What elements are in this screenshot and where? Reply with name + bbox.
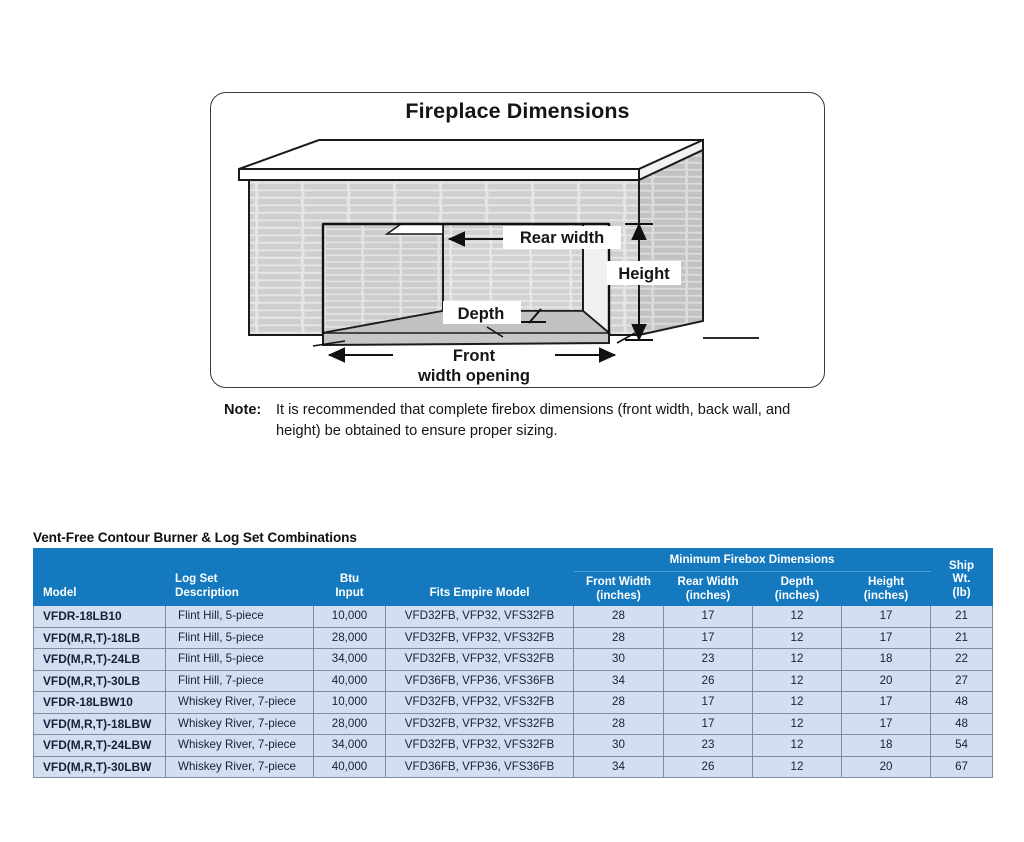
col-header-fits-empire-model: Fits Empire Model	[386, 549, 574, 606]
cell-log-set: Whiskey River, 7-piece	[166, 756, 314, 778]
cell-ship-weight: 22	[931, 649, 993, 671]
cell-rear-width: 17	[664, 627, 753, 649]
cell-btu-input: 28,000	[314, 713, 386, 735]
cell-depth: 12	[753, 670, 842, 692]
col-header-log-set-description-line2: Description	[175, 586, 239, 599]
table-row: VFD(M,R,T)-30LBFlint Hill, 7-piece40,000…	[34, 670, 993, 692]
cell-log-set: Whiskey River, 7-piece	[166, 713, 314, 735]
cell-height: 17	[842, 627, 931, 649]
cell-model: VFD(M,R,T)-24LB	[34, 649, 166, 671]
note-block: Note: It is recommended that complete fi…	[224, 400, 824, 442]
note-text: It is recommended that complete firebox …	[276, 400, 824, 442]
col-header-rear-width-line2: (inches)	[686, 589, 730, 602]
cell-model: VFD(M,R,T)-24LBW	[34, 735, 166, 757]
height-label: Height	[618, 265, 670, 283]
cell-fits-empire-model: VFD32FB, VFP32, VFS32FB	[386, 692, 574, 714]
col-header-log-set-description-line1: Log Set	[175, 572, 218, 585]
cell-height: 20	[842, 670, 931, 692]
col-header-ship-weight-line3: (lb)	[953, 586, 971, 599]
cell-log-set: Flint Hill, 5-piece	[166, 627, 314, 649]
cell-log-set: Flint Hill, 5-piece	[166, 606, 314, 628]
cell-depth: 12	[753, 692, 842, 714]
cell-btu-input: 34,000	[314, 735, 386, 757]
cell-front-width: 34	[574, 756, 664, 778]
cell-log-set: Whiskey River, 7-piece	[166, 692, 314, 714]
cell-btu-input: 28,000	[314, 627, 386, 649]
cell-btu-input: 34,000	[314, 649, 386, 671]
table-caption: Vent-Free Contour Burner & Log Set Combi…	[33, 530, 357, 545]
col-header-group-minimum-firebox-dimensions: Minimum Firebox Dimensions	[574, 549, 931, 572]
cell-rear-width: 17	[664, 692, 753, 714]
cell-ship-weight: 21	[931, 627, 993, 649]
col-header-rear-width-line1: Rear Width	[677, 575, 738, 588]
cell-fits-empire-model: VFD36FB, VFP36, VFS36FB	[386, 756, 574, 778]
table-row: VFD(M,R,T)-24LBFlint Hill, 5-piece34,000…	[34, 649, 993, 671]
cell-log-set: Flint Hill, 5-piece	[166, 649, 314, 671]
cell-rear-width: 26	[664, 756, 753, 778]
depth-label: Depth	[458, 305, 505, 323]
fireplace-dimensions-panel: Fireplace Dimensions	[210, 92, 825, 388]
col-header-front-width-line1: Front Width	[586, 575, 651, 588]
cell-depth: 12	[753, 735, 842, 757]
cell-height: 17	[842, 692, 931, 714]
table-row: VFD(M,R,T)-18LBFlint Hill, 5-piece28,000…	[34, 627, 993, 649]
col-header-height: Height (inches)	[842, 572, 931, 606]
cell-model: VFD(M,R,T)-30LBW	[34, 756, 166, 778]
cell-btu-input: 10,000	[314, 606, 386, 628]
table-head: Model Log Set Description Btu Input Fits…	[34, 549, 993, 606]
fireplace-illustration: Rear width Height Depth Front width open…	[211, 93, 826, 389]
col-header-btu-input-line1: Btu	[340, 572, 359, 585]
col-header-ship-weight-line2: Wt.	[953, 572, 971, 585]
col-header-ship-weight-line1: Ship	[949, 559, 974, 572]
cell-rear-width: 23	[664, 735, 753, 757]
note-label: Note:	[224, 400, 276, 421]
table-row: VFD(M,R,T)-30LBWWhiskey River, 7-piece40…	[34, 756, 993, 778]
table-row: VFDR-18LBW10Whiskey River, 7-piece10,000…	[34, 692, 993, 714]
cell-front-width: 34	[574, 670, 664, 692]
cell-model: VFD(M,R,T)-18LBW	[34, 713, 166, 735]
cell-fits-empire-model: VFD32FB, VFP32, VFS32FB	[386, 713, 574, 735]
cell-front-width: 28	[574, 627, 664, 649]
col-header-btu-input: Btu Input	[314, 549, 386, 606]
table-row: VFD(M,R,T)-24LBWWhiskey River, 7-piece34…	[34, 735, 993, 757]
cell-ship-weight: 21	[931, 606, 993, 628]
cell-rear-width: 26	[664, 670, 753, 692]
cell-fits-empire-model: VFD32FB, VFP32, VFS32FB	[386, 606, 574, 628]
cell-log-set: Whiskey River, 7-piece	[166, 735, 314, 757]
col-header-log-set-description: Log Set Description	[166, 549, 314, 606]
cell-btu-input: 40,000	[314, 670, 386, 692]
col-header-model: Model	[34, 549, 166, 606]
cell-log-set: Flint Hill, 7-piece	[166, 670, 314, 692]
cell-btu-input: 40,000	[314, 756, 386, 778]
col-header-height-line1: Height	[868, 575, 904, 588]
cell-height: 18	[842, 649, 931, 671]
col-header-front-width-line2: (inches)	[596, 589, 640, 602]
table-body: VFDR-18LB10Flint Hill, 5-piece10,000VFD3…	[34, 606, 993, 778]
front-width-label-line1: Front	[453, 347, 496, 365]
cell-front-width: 28	[574, 692, 664, 714]
table-header-row-group: Model Log Set Description Btu Input Fits…	[34, 549, 993, 572]
cell-front-width: 28	[574, 713, 664, 735]
cell-rear-width: 17	[664, 606, 753, 628]
cell-front-width: 30	[574, 649, 664, 671]
cell-height: 18	[842, 735, 931, 757]
cell-ship-weight: 48	[931, 692, 993, 714]
col-header-depth-line1: Depth	[781, 575, 814, 588]
cell-depth: 12	[753, 649, 842, 671]
cell-btu-input: 10,000	[314, 692, 386, 714]
col-header-ship-weight: Ship Wt. (lb)	[931, 549, 993, 606]
cell-height: 17	[842, 713, 931, 735]
cell-model: VFDR-18LB10	[34, 606, 166, 628]
col-header-height-line2: (inches)	[864, 589, 908, 602]
col-header-depth-line2: (inches)	[775, 589, 819, 602]
front-width-label-line2: width opening	[417, 367, 530, 385]
cell-front-width: 30	[574, 735, 664, 757]
cell-rear-width: 17	[664, 713, 753, 735]
cell-height: 20	[842, 756, 931, 778]
cell-fits-empire-model: VFD32FB, VFP32, VFS32FB	[386, 735, 574, 757]
cell-height: 17	[842, 606, 931, 628]
cell-depth: 12	[753, 713, 842, 735]
table-row: VFD(M,R,T)-18LBWWhiskey River, 7-piece28…	[34, 713, 993, 735]
table-row: VFDR-18LB10Flint Hill, 5-piece10,000VFD3…	[34, 606, 993, 628]
cell-fits-empire-model: VFD32FB, VFP32, VFS32FB	[386, 649, 574, 671]
cell-fits-empire-model: VFD36FB, VFP36, VFS36FB	[386, 670, 574, 692]
col-header-btu-input-line2: Input	[335, 586, 363, 599]
cell-ship-weight: 67	[931, 756, 993, 778]
cell-rear-width: 23	[664, 649, 753, 671]
cell-model: VFD(M,R,T)-18LB	[34, 627, 166, 649]
cell-depth: 12	[753, 756, 842, 778]
cell-front-width: 28	[574, 606, 664, 628]
col-header-front-width: Front Width (inches)	[574, 572, 664, 606]
cell-fits-empire-model: VFD32FB, VFP32, VFS32FB	[386, 627, 574, 649]
cell-ship-weight: 27	[931, 670, 993, 692]
cell-depth: 12	[753, 606, 842, 628]
rear-width-label: Rear width	[520, 229, 604, 247]
col-header-depth: Depth (inches)	[753, 572, 842, 606]
cell-model: VFDR-18LBW10	[34, 692, 166, 714]
col-header-rear-width: Rear Width (inches)	[664, 572, 753, 606]
cell-ship-weight: 48	[931, 713, 993, 735]
burner-log-set-combinations-table: Model Log Set Description Btu Input Fits…	[33, 548, 993, 778]
cell-depth: 12	[753, 627, 842, 649]
cell-ship-weight: 54	[931, 735, 993, 757]
cell-model: VFD(M,R,T)-30LB	[34, 670, 166, 692]
